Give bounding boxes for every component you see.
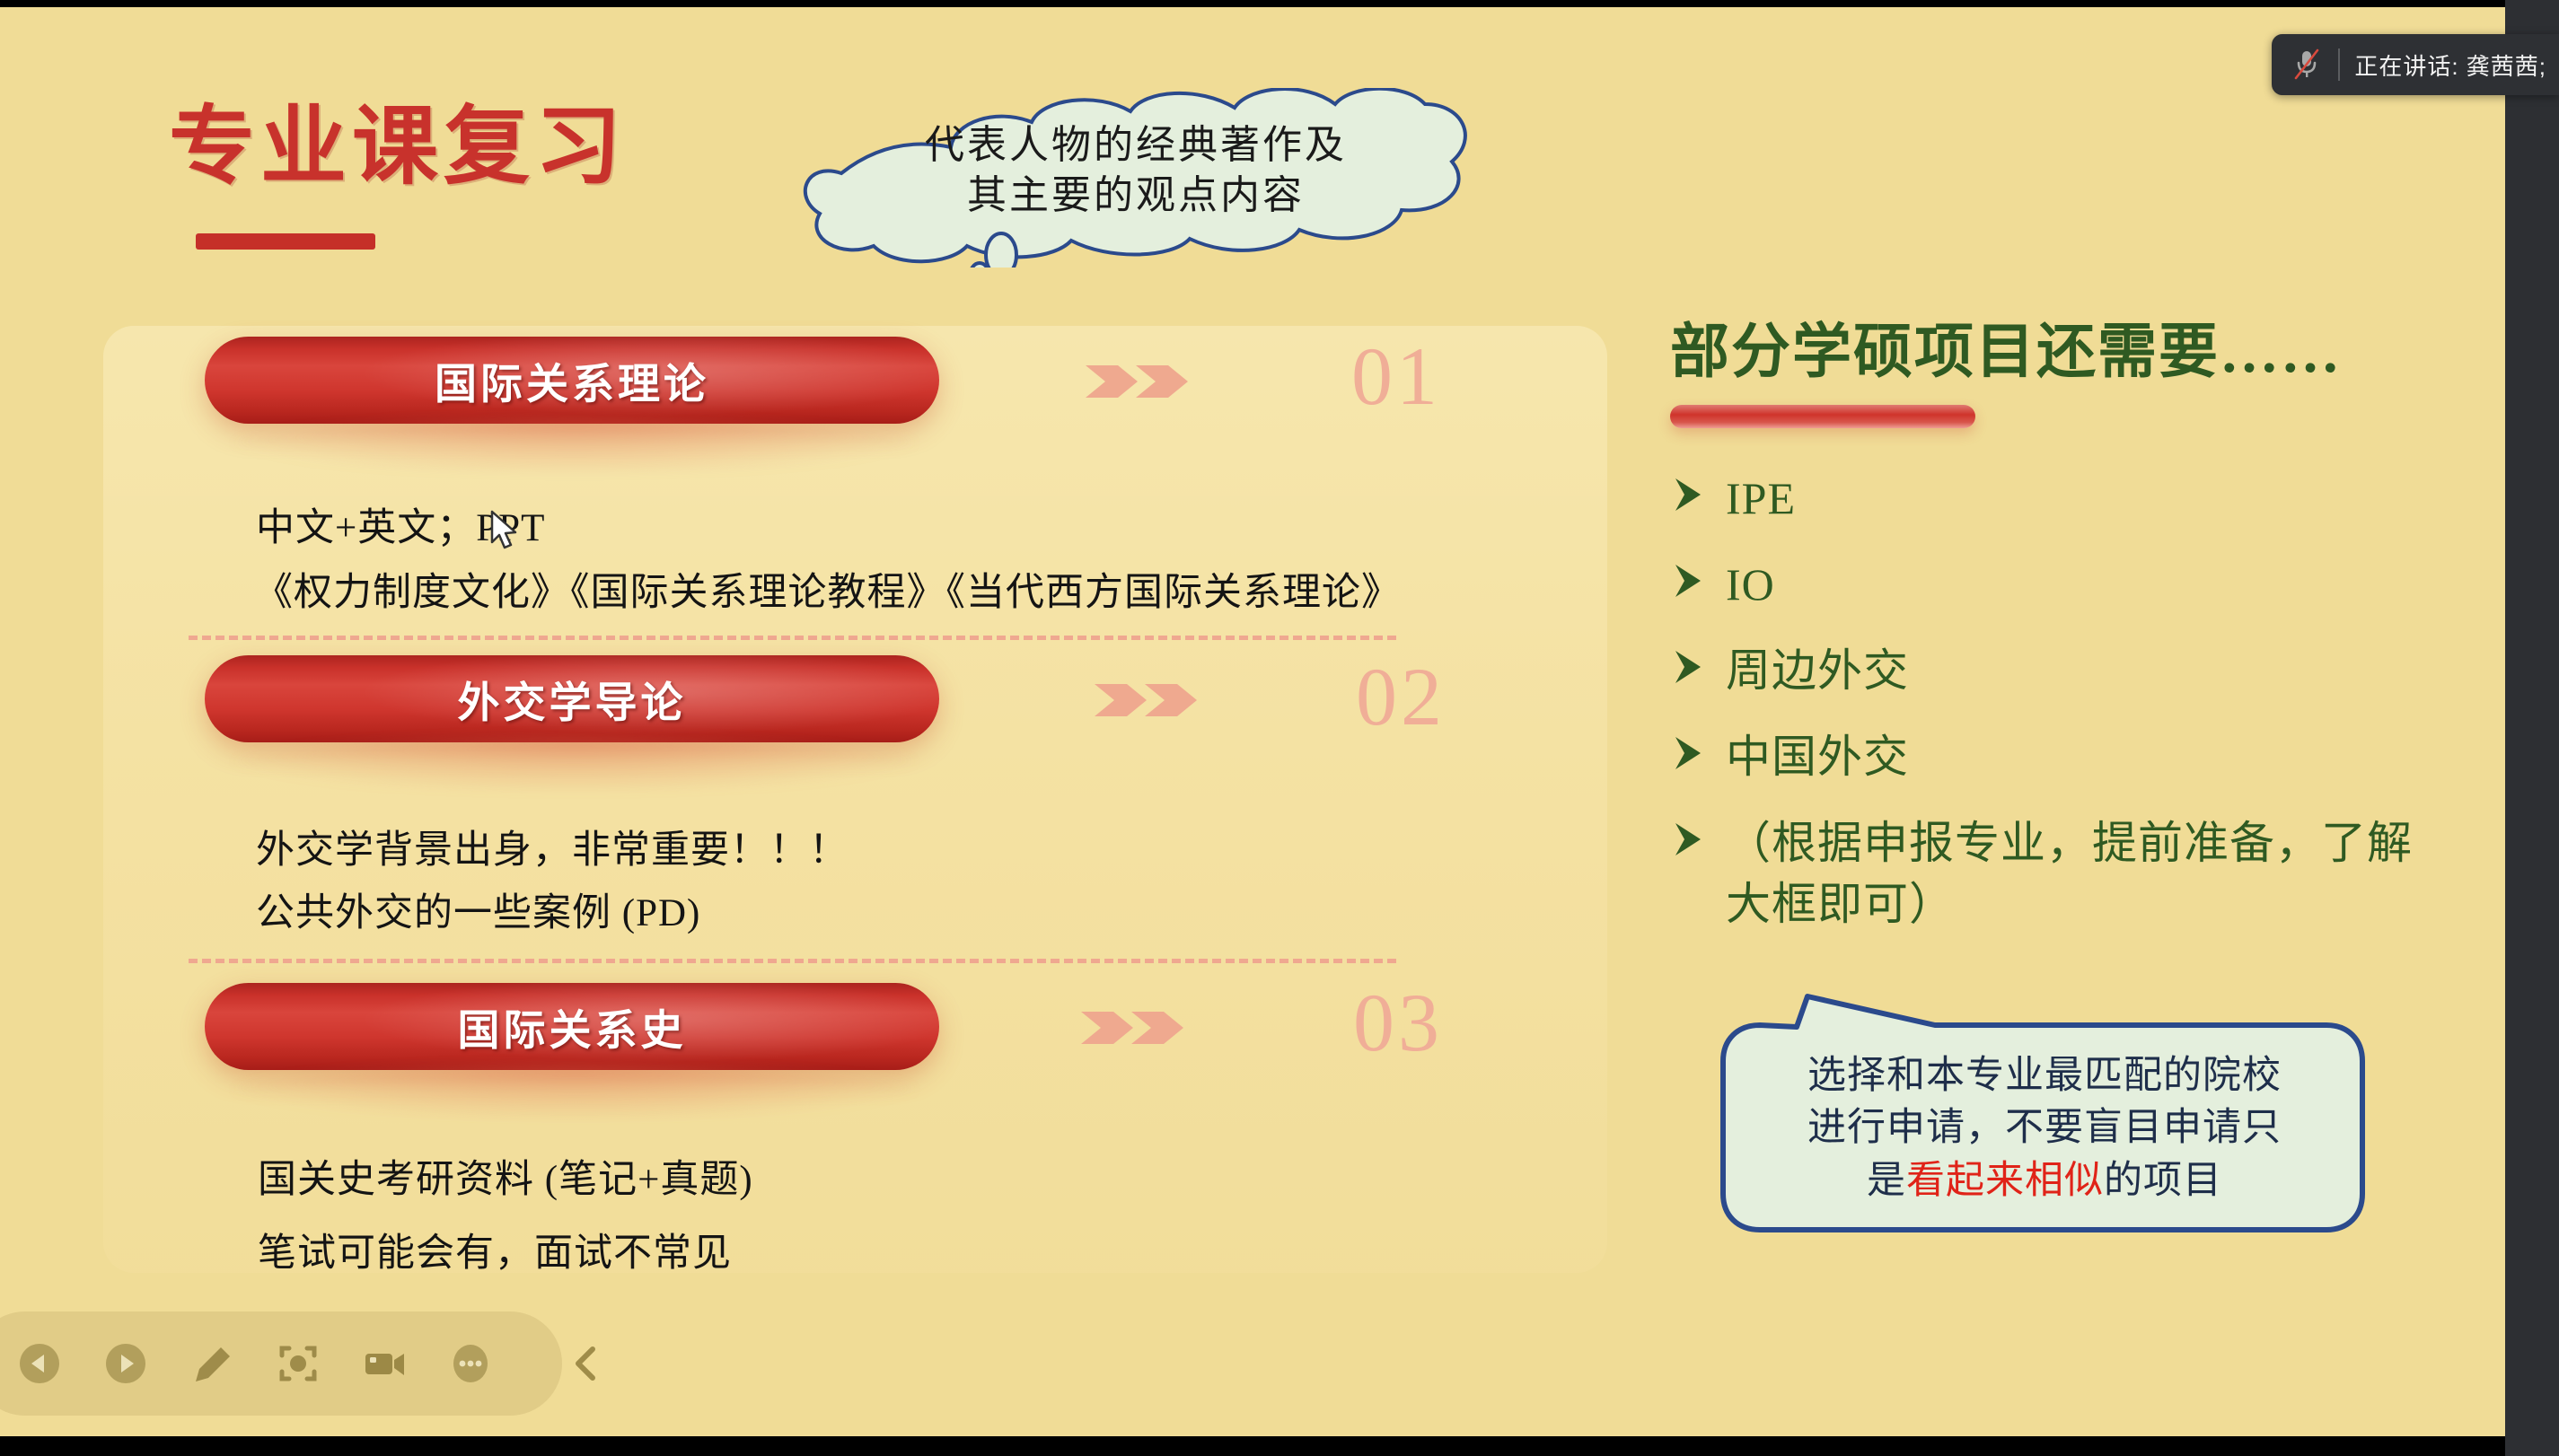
speaking-indicator[interactable]: 正在讲话: 龚茜茜; xyxy=(2272,34,2559,95)
section-01-label: 国际关系理论 xyxy=(435,349,709,411)
arrow-bullet-icon xyxy=(1670,554,1726,601)
section-03-number: 03 xyxy=(1353,981,1443,1064)
presentation-toolbar[interactable] xyxy=(0,1311,562,1416)
left-content-panel: 国际关系理论 01 中文+英文；PPT 《权力制度文化》《国际关系理论教程》《当… xyxy=(103,326,1607,1273)
previous-slide-button[interactable] xyxy=(16,1338,63,1389)
presentation-slide: 专业课复习 代表人物的经典著作及 其主要的观点内容 国际关系理论 xyxy=(0,7,2505,1436)
section-02-chevrons xyxy=(1091,677,1208,724)
screenshot-button[interactable] xyxy=(275,1338,321,1389)
list-item: 周边外交 xyxy=(1670,640,2478,701)
double-chevron-icon xyxy=(1077,1004,1189,1051)
frame-top-edge xyxy=(0,0,2559,7)
section-01-number: 01 xyxy=(1351,335,1441,417)
section-02-pill[interactable]: 外交学导论 xyxy=(205,655,939,742)
thought-cloud-text: 代表人物的经典著作及 其主要的观点内容 xyxy=(723,120,1549,222)
pill-reflection xyxy=(229,1066,920,1118)
section-02-line-2: 公共外交的一些案例 (PD) xyxy=(256,881,700,937)
section-03: 国际关系史 03 国关史考研资料 (笔记+真题) 笔试可能会有，面试不常见 xyxy=(103,970,1607,1272)
frame-bottom-edge xyxy=(0,1436,2559,1456)
section-01-line-2: 《权力制度文化》《国际关系理论教程》《当代西方国际关系理论》 xyxy=(254,561,1401,617)
section-divider-1 xyxy=(189,636,1396,640)
pill-reflection xyxy=(229,738,920,790)
bubble-line3-prefix: 是 xyxy=(1867,1160,1906,1202)
bullet-label: IPE xyxy=(1726,468,1796,529)
bubble-line3-highlight: 看起来相似 xyxy=(1906,1160,2104,1202)
ellipsis-icon xyxy=(447,1340,494,1387)
thought-cloud: 代表人物的经典著作及 其主要的观点内容 xyxy=(723,88,1549,268)
record-button[interactable] xyxy=(361,1338,408,1389)
bullet-label: 中国外交 xyxy=(1726,726,1909,787)
frame-right-edge xyxy=(2505,0,2559,1456)
speech-bubble-line-2: 进行申请，不要盲目申请只 xyxy=(1745,1102,2344,1154)
section-01-pill[interactable]: 国际关系理论 xyxy=(205,337,939,424)
speech-bubble-line-3: 是看起来相似的项目 xyxy=(1745,1155,2344,1207)
right-column: 部分学硕项目还需要…… IPE IO xyxy=(1670,321,2478,960)
double-chevron-icon xyxy=(1082,358,1193,405)
screen-root: 专业课复习 代表人物的经典著作及 其主要的观点内容 国际关系理论 xyxy=(0,0,2559,1456)
bubble-line3-suffix: 的项目 xyxy=(2104,1160,2222,1202)
chevron-left-icon xyxy=(566,1340,607,1387)
microphone-muted-icon xyxy=(2290,46,2324,83)
more-options-button[interactable] xyxy=(447,1338,494,1389)
page-title: 专业课复习 xyxy=(169,104,627,190)
section-divider-2 xyxy=(189,959,1396,963)
section-01-chevrons xyxy=(1082,358,1199,405)
annotate-pen-button[interactable] xyxy=(189,1338,235,1389)
section-02-line-1: 外交学背景出身，非常重要！！！ xyxy=(256,819,849,874)
bullet-label: 周边外交 xyxy=(1726,640,1909,701)
arrow-bullet-icon xyxy=(1670,640,1726,687)
list-item: （根据申报专业，提前准备，了解大框即可） xyxy=(1670,812,2478,934)
screenshot-icon xyxy=(275,1340,321,1387)
arrow-bullet-icon xyxy=(1670,812,1726,859)
arrow-bullet-icon xyxy=(1670,468,1726,514)
next-slide-button[interactable] xyxy=(102,1338,149,1389)
list-item: IO xyxy=(1670,554,2478,615)
section-03-line-1: 国关史考研资料 (笔记+真题) xyxy=(258,1148,753,1204)
arrow-bullet-icon xyxy=(1670,726,1726,773)
list-item: 中国外交 xyxy=(1670,726,2478,787)
thought-cloud-line-2: 其主要的观点内容 xyxy=(723,171,1549,221)
next-icon xyxy=(102,1340,149,1387)
right-column-bullet-list: IPE IO 周边外交 xyxy=(1670,468,2478,934)
pen-icon xyxy=(189,1340,235,1387)
section-01-line-1: 中文+英文；PPT xyxy=(256,496,545,552)
section-03-label: 国际关系史 xyxy=(458,996,687,1057)
video-camera-icon xyxy=(361,1340,408,1387)
speech-bubble-text: 选择和本专业最匹配的院校 进行申请，不要盲目申请只 是看起来相似的项目 xyxy=(1745,1050,2344,1207)
speaking-status-text: 正在讲话: 龚茜茜; xyxy=(2354,48,2546,82)
bullet-label: （根据申报专业，提前准备，了解大框即可） xyxy=(1726,812,2435,934)
bullet-label: IO xyxy=(1726,554,1775,615)
double-chevron-icon xyxy=(1091,677,1202,724)
section-01: 国际关系理论 01 中文+英文；PPT 《权力制度文化》《国际关系理论教程》《当… xyxy=(103,326,1607,640)
title-underline xyxy=(196,233,375,250)
list-item: IPE xyxy=(1670,468,2478,529)
speech-bubble-line-1: 选择和本专业最匹配的院校 xyxy=(1745,1050,2344,1102)
section-03-line-2: 笔试可能会有，面试不常见 xyxy=(258,1222,732,1277)
pill-reflection xyxy=(229,419,920,471)
section-03-pill[interactable]: 国际关系史 xyxy=(205,983,939,1070)
section-02-number: 02 xyxy=(1356,655,1446,738)
collapse-toolbar-button[interactable] xyxy=(566,1338,607,1389)
section-02: 外交学导论 02 外交学背景出身，非常重要！！！ 公共外交的一些案例 (PD) xyxy=(103,643,1607,968)
prev-icon xyxy=(16,1340,63,1387)
right-column-underline xyxy=(1670,405,1975,428)
right-column-title: 部分学硕项目还需要…… xyxy=(1670,321,2478,383)
section-02-label: 外交学导论 xyxy=(458,668,687,730)
thought-cloud-line-1: 代表人物的经典著作及 xyxy=(723,120,1549,171)
indicator-separator xyxy=(2338,48,2340,81)
speech-bubble: 选择和本专业最匹配的院校 进行申请，不要盲目申请只 是看起来相似的项目 xyxy=(1710,993,2375,1242)
section-03-chevrons xyxy=(1077,1004,1194,1051)
